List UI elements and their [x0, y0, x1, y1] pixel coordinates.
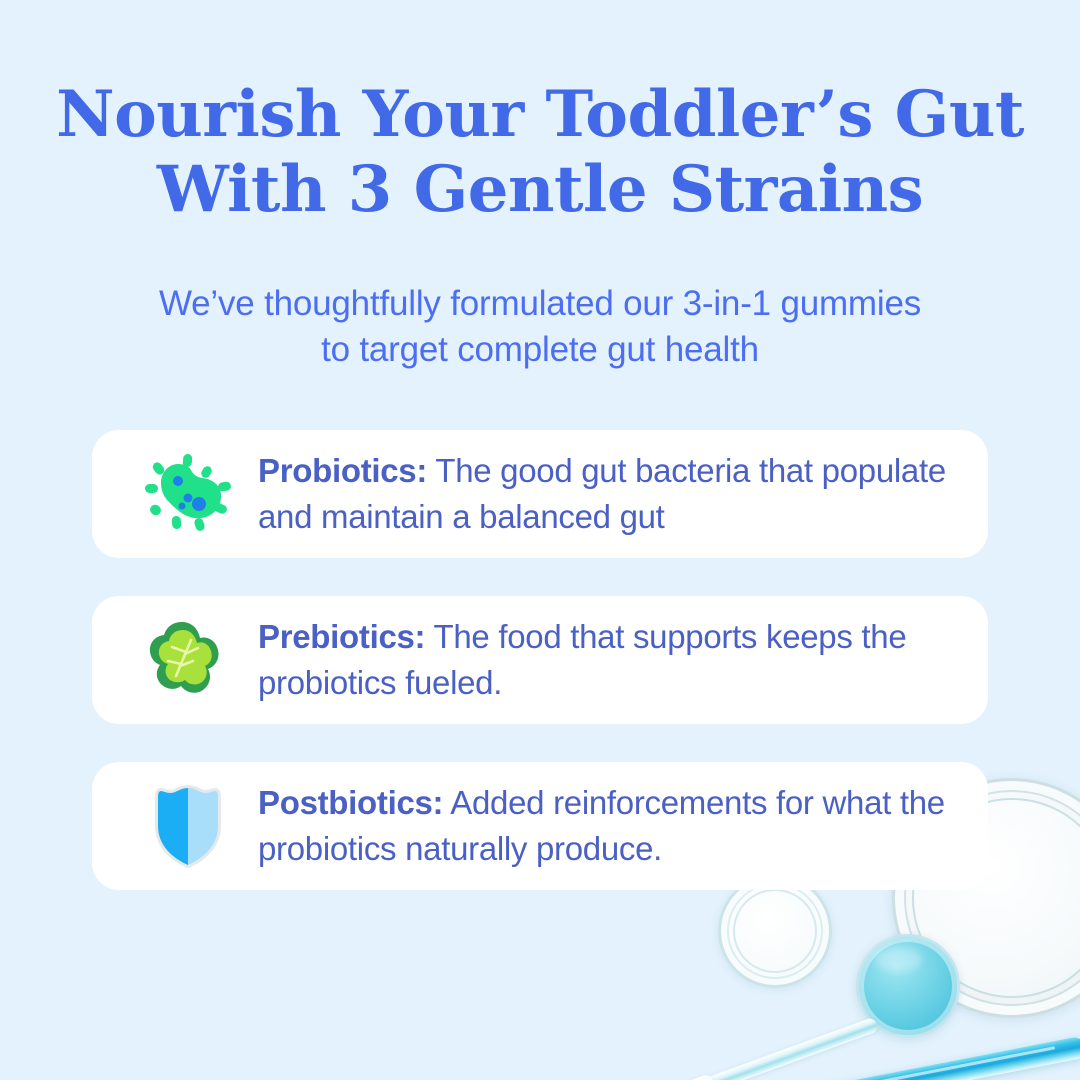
shield-icon — [140, 778, 236, 874]
page-subtitle: We’ve thoughtfully formulated our 3-in-1… — [0, 281, 1080, 373]
feature-card-probiotics: Probiotics: The good gut bacteria that p… — [92, 430, 988, 558]
feature-card-lead: Prebiotics: — [258, 618, 425, 655]
feature-card-postbiotics: Postbiotics: Added reinforcements for wh… — [92, 762, 988, 890]
feature-card-prebiotics: Prebiotics: The food that supports keeps… — [92, 596, 988, 724]
page-title-line-2: With 3 Gentle Strains — [0, 153, 1080, 228]
leafy-green-icon — [140, 612, 236, 708]
feature-card-text: Postbiotics: Added reinforcements for wh… — [258, 780, 960, 871]
page-subtitle-line-1: We’ve thoughtfully formulated our 3-in-1… — [159, 284, 921, 323]
page-subtitle-line-2: to target complete gut health — [0, 327, 1080, 373]
feature-card-text: Prebiotics: The food that supports keeps… — [258, 614, 960, 705]
blue-glass-tube — [789, 1036, 1080, 1080]
glass-pipette — [672, 1017, 879, 1080]
feature-card-lead: Postbiotics: — [258, 784, 443, 821]
page-title: Nourish Your Toddler’s Gut With 3 Gentle… — [0, 78, 1080, 228]
feature-card-text: Probiotics: The good gut bacteria that p… — [258, 448, 960, 539]
feature-card-lead: Probiotics: — [258, 452, 427, 489]
feature-card-list: Probiotics: The good gut bacteria that p… — [92, 430, 988, 890]
empty-petri-dish — [718, 874, 832, 988]
bacteria-icon — [140, 446, 236, 542]
page-title-line-1: Nourish Your Toddler’s Gut — [56, 77, 1024, 152]
blue-liquid-petri-dish — [856, 934, 960, 1038]
